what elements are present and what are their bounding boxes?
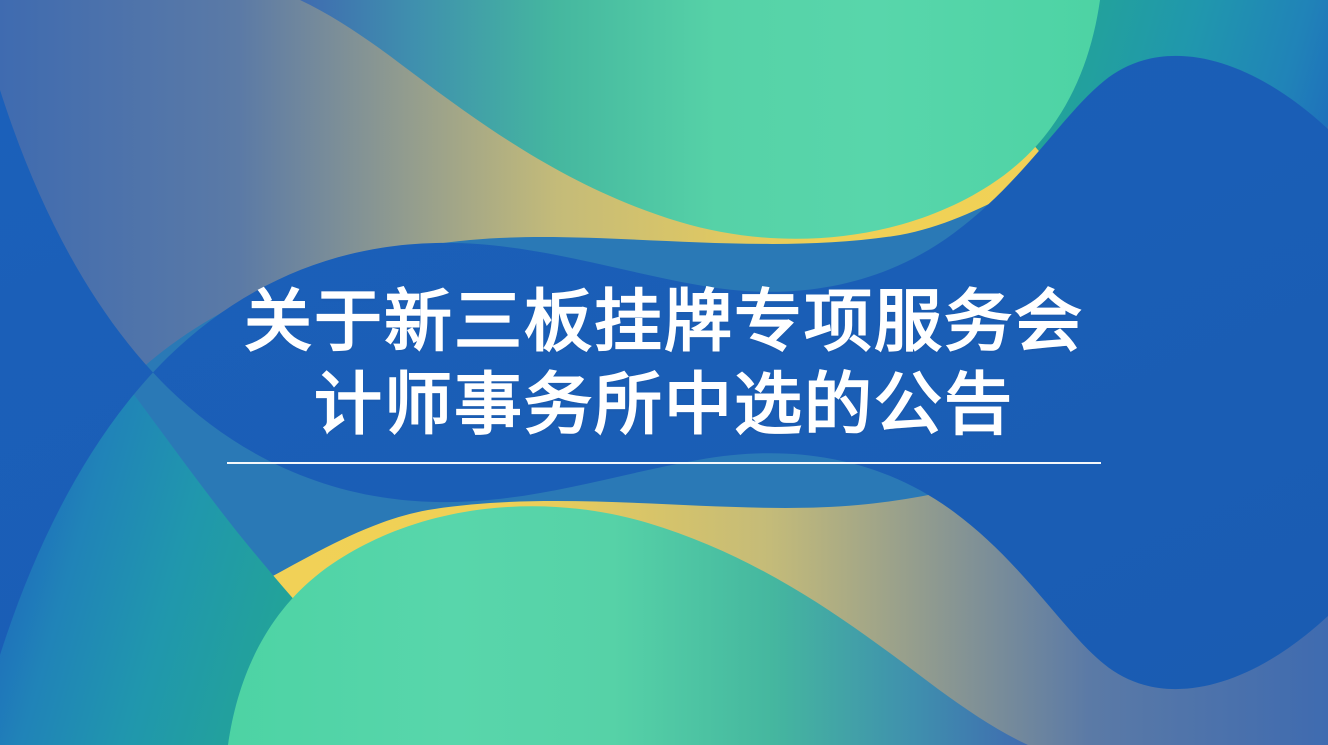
announcement-slide: 关于新三板挂牌专项服务会计师事务所中选的公告 [0, 0, 1328, 745]
decorative-background [0, 0, 1328, 745]
